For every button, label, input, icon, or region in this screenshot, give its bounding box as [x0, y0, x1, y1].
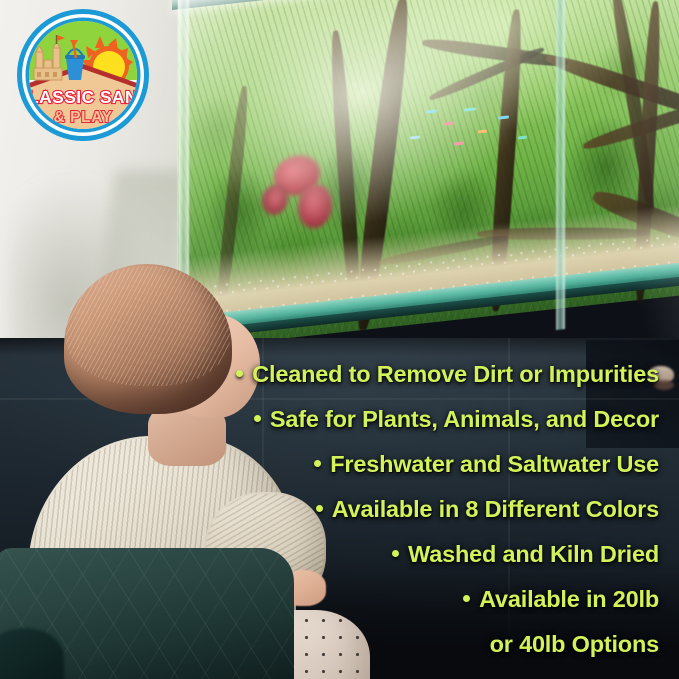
bullet-dot-icon [254, 415, 261, 422]
brand-logo: CLASSIC SAND & PLAY [8, 8, 158, 142]
classic-sand-and-play-logo-icon: CLASSIC SAND & PLAY [8, 8, 158, 142]
bullet-dot-icon [316, 505, 323, 512]
feature-bullet-sizes: Available in 20lb [180, 577, 659, 622]
feature-bullet-washed: Washed and Kiln Dried [180, 532, 659, 577]
bullet-dot-icon [236, 370, 243, 377]
feature-bullet-list: Cleaned to Remove Dirt or Impurities Saf… [180, 352, 659, 667]
feature-bullet-safe: Safe for Plants, Animals, and Decor [180, 397, 659, 442]
feature-text-water-type: Freshwater and Saltwater Use [330, 451, 659, 477]
feature-bullet-cleaned: Cleaned to Remove Dirt or Impurities [180, 352, 659, 397]
feature-text-sizes: Available in 20lb [479, 586, 659, 612]
product-image: CLASSIC SAND & PLAY Cleaned to Remove Di… [0, 0, 679, 679]
feature-bullet-water-type: Freshwater and Saltwater Use [180, 442, 659, 487]
bullet-dot-icon [314, 460, 321, 467]
feature-text-cleaned: Cleaned to Remove Dirt or Impurities [252, 361, 659, 387]
feature-text-sizes-continued: or 40lb Options [180, 622, 659, 667]
feature-text-washed: Washed and Kiln Dried [408, 541, 659, 567]
aquarium-corner-glass-seam [556, 0, 565, 330]
feature-bullet-colors: Available in 8 Different Colors [180, 487, 659, 532]
bullet-dot-icon [463, 595, 470, 602]
bullet-dot-icon [392, 550, 399, 557]
feature-text-safe: Safe for Plants, Animals, and Decor [270, 406, 659, 432]
logo-text-line-2: & PLAY [53, 109, 112, 126]
feature-text-colors: Available in 8 Different Colors [332, 496, 659, 522]
